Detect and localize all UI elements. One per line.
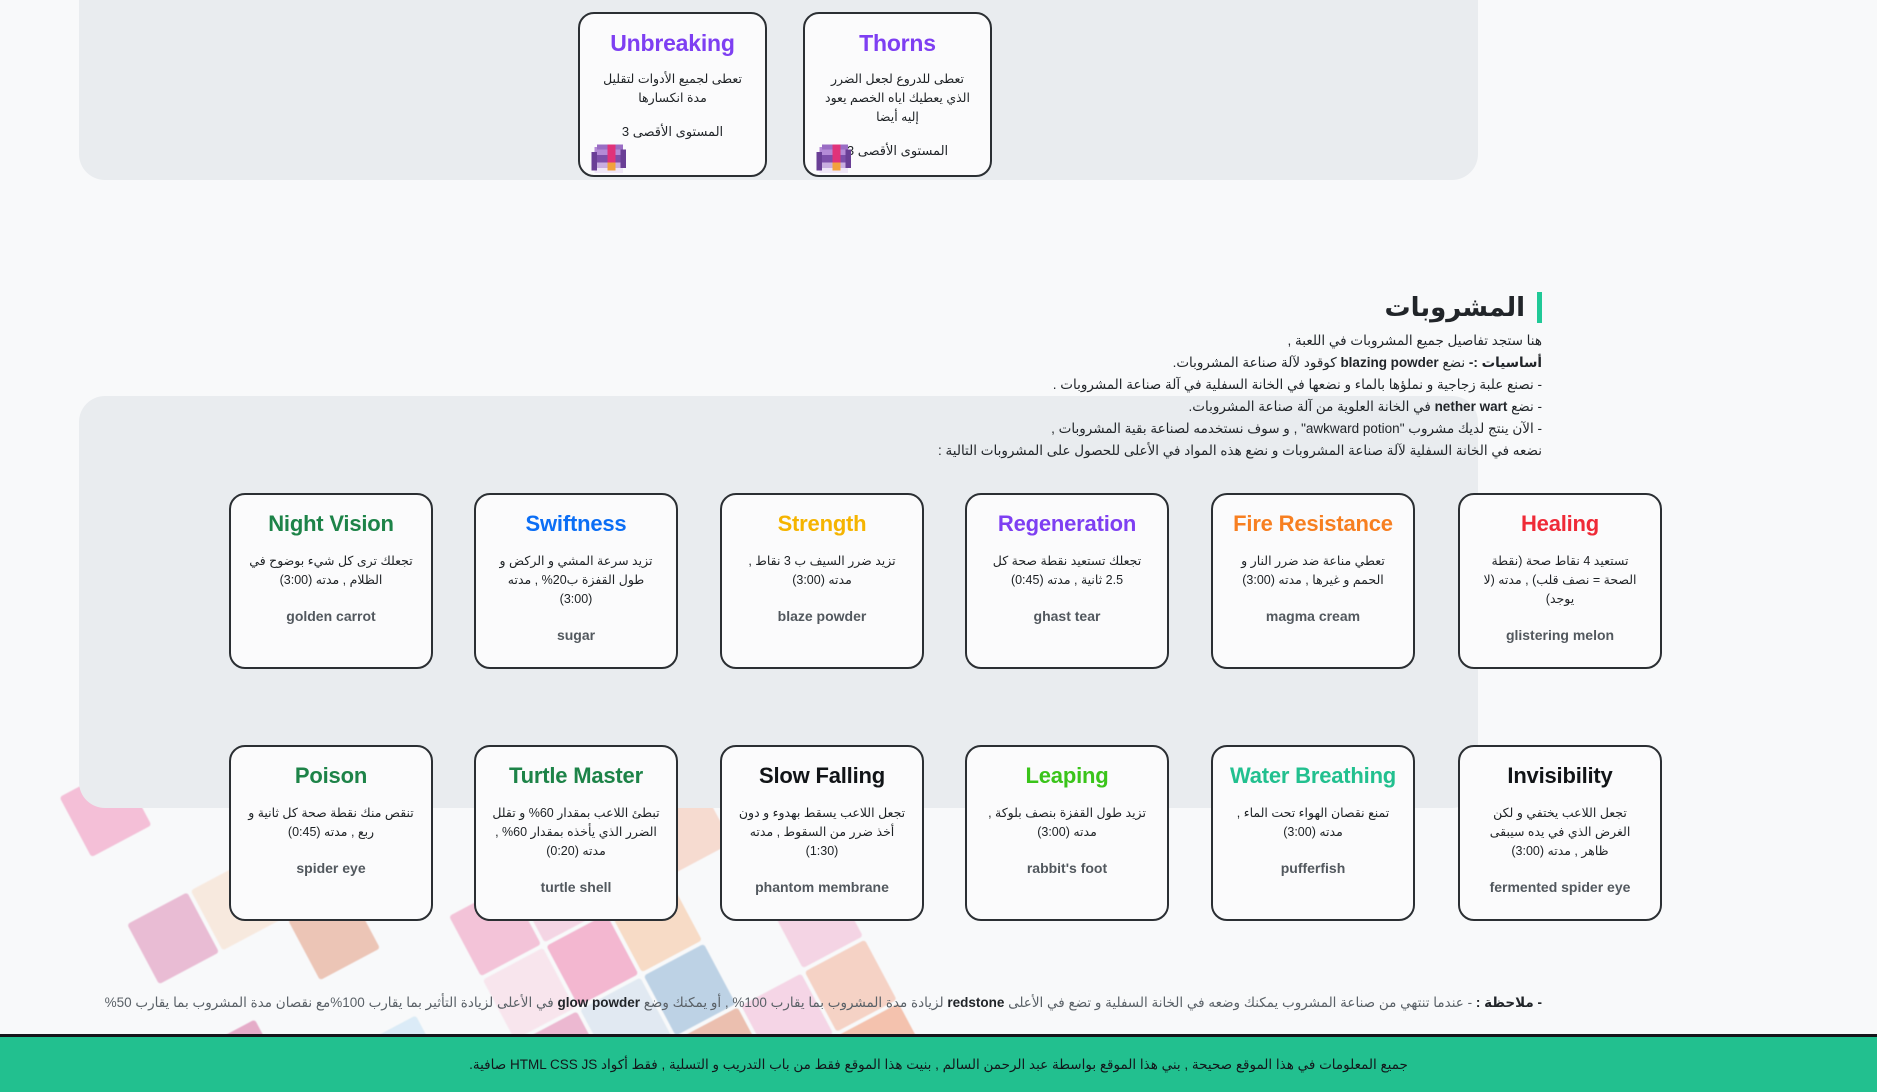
potion-card-strength[interactable]: Strength تزيد ضرر السيف ب 3 نقاط , مدته …	[720, 493, 924, 669]
potion-card-regeneration[interactable]: Regeneration تجعلك تستعيد نقطة صحة كل 2.…	[965, 493, 1169, 669]
potion-card-title: Fire Resistance	[1223, 511, 1403, 536]
enchanted-book-icon	[814, 139, 856, 177]
potion-card-title: Poison	[241, 763, 421, 788]
potion-card-description: تعطي مناعة ضد ضرر النار و الحمم و غيرها …	[1223, 552, 1403, 590]
potion-card-ingredient: golden carrot	[241, 608, 421, 624]
potion-card-description: تمنع نقصان الهواء تحت الماء , مدته (3:00…	[1223, 804, 1403, 842]
enchantments-panel	[79, 0, 1478, 180]
enchantment-card-title: Thorns	[815, 30, 980, 56]
intro-line: هنا ستجد تفاصيل جميع المشروبات في اللعبة…	[192, 330, 1542, 352]
potion-card-description: تبطئ اللاعب بمقدار 60% و تقلل الضرر الذي…	[486, 804, 666, 860]
potion-card-description: تنقص منك نقطة صحة كل ثانية و ربع , مدته …	[241, 804, 421, 842]
site-footer: جميع المعلومات في هذا الموقع صحيحة , بني…	[0, 1034, 1877, 1092]
enchantment-card-level: المستوى الأقصى 3	[590, 124, 755, 140]
potion-card-night-vision[interactable]: Night Vision تجعلك ترى كل شيء بوضوح في ا…	[229, 493, 433, 669]
potion-card-description: تزيد سرعة المشي و الركض و طول القفزة ب20…	[486, 552, 666, 608]
potion-card-title: Night Vision	[241, 511, 421, 536]
potion-card-title: Leaping	[977, 763, 1157, 788]
potion-card-healing[interactable]: Healing تستعيد 4 نقاط صحة (نقطة الصحة = …	[1458, 493, 1662, 669]
intro-line: - نضع nether wart في الخانة العلوية من آ…	[192, 396, 1542, 418]
enchanted-book-icon	[589, 139, 631, 177]
intro-line: نضعه في الخانة السفلية لآلة صناعة المشرو…	[192, 440, 1542, 462]
potion-card-description: تزيد ضرر السيف ب 3 نقاط , مدته (3:00)	[732, 552, 912, 590]
potion-card-turtle-master[interactable]: Turtle Master تبطئ اللاعب بمقدار 60% و ت…	[474, 745, 678, 921]
potions-intro: هنا ستجد تفاصيل جميع المشروبات في اللعبة…	[192, 330, 1542, 462]
potion-card-ingredient: ghast tear	[977, 608, 1157, 624]
potion-card-description: تجعلك تستعيد نقطة صحة كل 2.5 ثانية , مدت…	[977, 552, 1157, 590]
potion-card-description: تجعل اللاعب يسقط بهدوء و دون أخذ ضرر من …	[732, 804, 912, 860]
potion-card-title: Strength	[732, 511, 912, 536]
potion-card-ingredient: spider eye	[241, 860, 421, 876]
potion-card-ingredient: blaze powder	[732, 608, 912, 624]
potion-card-ingredient: turtle shell	[486, 879, 666, 895]
potion-card-fire-resistance[interactable]: Fire Resistance تعطي مناعة ضد ضرر النار …	[1211, 493, 1415, 669]
potion-card-invisibility[interactable]: Invisibility تجعل اللاعب يختفي و لكن الغ…	[1458, 745, 1662, 921]
enchantment-card-title: Unbreaking	[590, 30, 755, 56]
enchantment-card-description: تعطى للدروع لجعل الضرر الذي يعطيك اياه ا…	[815, 70, 980, 126]
potion-card-swiftness[interactable]: Swiftness تزيد سرعة المشي و الركض و طول …	[474, 493, 678, 669]
potion-card-ingredient: fermented spider eye	[1470, 879, 1650, 895]
enchantment-card-unbreaking[interactable]: Unbreaking تعطى لجميع الأدوات لتقليل مدة…	[578, 12, 767, 177]
potion-card-water-breathing[interactable]: Water Breathing تمنع نقصان الهواء تحت ال…	[1211, 745, 1415, 921]
potion-card-ingredient: pufferfish	[1223, 860, 1403, 876]
intro-line: - نصنع علبة زجاجية و نملؤها بالماء و نضع…	[192, 374, 1542, 396]
potion-card-description: تجعلك ترى كل شيء بوضوح في الظلام , مدته …	[241, 552, 421, 590]
potion-card-title: Regeneration	[977, 511, 1157, 536]
enchantment-card-description: تعطى لجميع الأدوات لتقليل مدة انكسارها	[590, 70, 755, 108]
potion-card-ingredient: magma cream	[1223, 608, 1403, 624]
potion-card-ingredient: phantom membrane	[732, 879, 912, 895]
potion-card-title: Slow Falling	[732, 763, 912, 788]
potion-card-description: تستعيد 4 نقاط صحة (نقطة الصحة = نصف قلب)…	[1470, 552, 1650, 608]
potion-card-ingredient: rabbit's foot	[977, 860, 1157, 876]
potion-card-title: Invisibility	[1470, 763, 1650, 788]
footer-text: جميع المعلومات في هذا الموقع صحيحة , بني…	[469, 1057, 1408, 1073]
potion-card-ingredient: glistering melon	[1470, 627, 1650, 643]
potion-card-slow-falling[interactable]: Slow Falling تجعل اللاعب يسقط بهدوء و دو…	[720, 745, 924, 921]
intro-line: أساسيات :- نضع blazing powder كوقود لآلة…	[192, 352, 1542, 374]
potion-card-poison[interactable]: Poison تنقص منك نقطة صحة كل ثانية و ربع …	[229, 745, 433, 921]
potion-card-description: تجعل اللاعب يختفي و لكن الغرض الذي في يد…	[1470, 804, 1650, 860]
potion-card-title: Turtle Master	[486, 763, 666, 788]
potion-card-description: تزيد طول القفزة بنصف بلوكة , مدته (3:00)	[977, 804, 1157, 842]
potion-card-title: Swiftness	[486, 511, 666, 536]
potions-heading: المشروبات	[1384, 292, 1542, 323]
potions-note: - ملاحظة : - عندما تنتهي من صناعة المشرو…	[42, 993, 1542, 1013]
potion-card-title: Healing	[1470, 511, 1650, 536]
intro-line: - الآن ينتج لديك مشروب "awkward potion" …	[192, 418, 1542, 440]
potion-card-ingredient: sugar	[486, 627, 666, 643]
potion-card-leaping[interactable]: Leaping تزيد طول القفزة بنصف بلوكة , مدت…	[965, 745, 1169, 921]
potion-card-title: Water Breathing	[1223, 763, 1403, 788]
enchantment-card-thorns[interactable]: Thorns تعطى للدروع لجعل الضرر الذي يعطيك…	[803, 12, 992, 177]
